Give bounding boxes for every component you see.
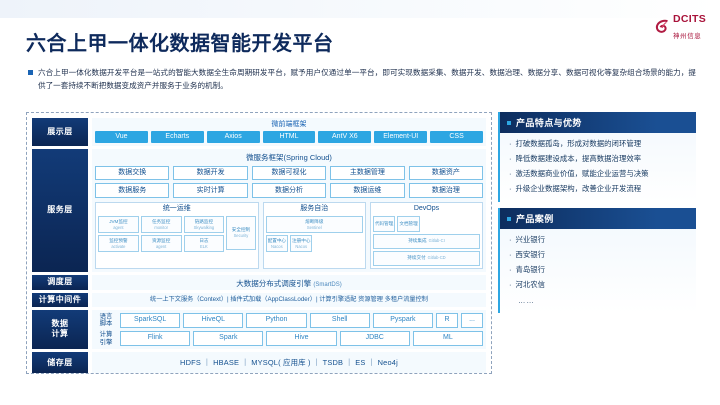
engine-chip[interactable]: Spark (193, 331, 263, 346)
dcits-swirl-icon (655, 19, 670, 34)
square-bullet-icon (28, 70, 33, 75)
ops-cell-en: Skywalking (194, 225, 214, 230)
list-item-label: 西安银行 (515, 251, 545, 260)
panel-cases: 产品案例 · 兴业银行 · 西安银行 · 青岛银行 · 河北农信 …… (498, 208, 696, 313)
list-item-label: 激活数据商业价值，赋能企业运营与决策 (515, 170, 648, 179)
engine-chip[interactable]: ML (413, 331, 483, 346)
ops-cell-en: activate (111, 244, 125, 249)
architecture-diagram: 展示层 微前端框架 Vue Echarts Axios HTML AntV X6… (26, 112, 492, 374)
ops-cell[interactable]: 资源监控 agent (141, 235, 182, 252)
ops-cell[interactable]: JVM监控 agent (98, 216, 139, 233)
service-module[interactable]: 数据交换 (95, 166, 169, 181)
list-item-label: 青岛银行 (515, 266, 545, 275)
list-item: · 降低数据建设成本，提高数据治理效率 (509, 155, 687, 164)
script-chip[interactable]: Python (246, 313, 306, 328)
panel-cases-list: · 兴业银行 · 西安银行 · 青岛银行 · 河北农信 …… (500, 229, 696, 309)
list-item-label: 打破数据孤岛，形成对数据的闭环管理 (515, 140, 641, 149)
ops-cell-en: monitor (154, 225, 168, 230)
script-chip[interactable]: SparkSQL (120, 313, 180, 328)
scheduler-engine-cn: 大数据分布式调度引擎 (236, 279, 311, 288)
layer-scheduler: 调度层 大数据分布式调度引擎 (SmartDS) (32, 275, 486, 290)
layer-label-middleware: 计算中间件 (32, 293, 88, 307)
compute-engine-row: 计算 引擎 Flink Spark Hive JDBC ML (95, 331, 483, 346)
scheduler-engine-title: 大数据分布式调度引擎 (SmartDS) (96, 278, 482, 289)
script-chip[interactable]: Shell (310, 313, 370, 328)
devops-cell-doc-mgmt[interactable]: 文档管理 (397, 216, 419, 232)
group-title: 服务自治 (266, 205, 363, 213)
compute-engine-label: 计算 引擎 (95, 331, 117, 346)
devops-cell-cn: 文档管理 (399, 221, 417, 227)
dot-bullet-icon: · (509, 185, 511, 194)
layer-label-service: 服务层 (32, 149, 88, 272)
service-module-row-1: 数据交换 数据开发 数据可视化 主数据管理 数据资产 (95, 166, 483, 181)
header-band (0, 0, 720, 18)
list-item-label: 降低数据建设成本，提高数据治理效率 (515, 155, 641, 164)
tech-chip[interactable]: AntV X6 (318, 131, 371, 143)
ops-cell-en: agent (113, 225, 123, 230)
engine-chip[interactable]: Flink (120, 331, 190, 346)
dot-bullet-icon: · (509, 140, 511, 149)
list-item-label: 兴业银行 (515, 236, 545, 245)
list-item: · 激活数据商业价值，赋能企业运营与决策 (509, 170, 687, 179)
service-module[interactable]: 数据可视化 (252, 166, 326, 181)
intro-text: 六合上甲一体化数据开发平台是一站式的智能大数据全生命周期研发平台，赋予用户仅通过… (38, 66, 696, 93)
panel-advantages-title: 产品特点与优势 (516, 116, 582, 129)
layer-label-compute: 数据 计算 (32, 310, 88, 350)
page-title: 六合上甲一体化数据智能开发平台 (26, 27, 334, 56)
compute-script-label-line2: 脚本 (100, 320, 113, 328)
devops-cell-cn: 持续交付 (407, 255, 425, 261)
list-item: · 河北农信 (509, 281, 687, 290)
group-service-autonomy: 服务自治 熔断降级 Sentinel 配置中心 Nacos (263, 202, 366, 268)
ops-cell-en: agent (156, 244, 166, 249)
layer-label-compute-line2: 计算 (52, 329, 69, 338)
autonomy-cell-circuit-breaker[interactable]: 熔断降级 Sentinel (266, 216, 363, 233)
compute-script-row: 语言 脚本 SparkSQL HiveQL Python Shell Pyspa… (95, 313, 483, 328)
layer-service: 服务层 微服务框架(Spring Cloud) 数据交换 数据开发 数据可视化 … (32, 149, 486, 272)
devops-cell-ci[interactable]: 持续集成 Gitlab-CI (373, 234, 480, 249)
service-module[interactable]: 数据治理 (409, 183, 483, 198)
script-chip-more[interactable]: ... (461, 313, 483, 328)
square-bullet-icon (507, 121, 511, 125)
tech-chip[interactable]: Vue (95, 131, 148, 143)
engine-chip[interactable]: Hive (266, 331, 336, 346)
dot-bullet-icon: · (509, 236, 511, 245)
layer-compute: 数据 计算 语言 脚本 SparkSQL HiveQL Python Shell… (32, 310, 486, 350)
service-module[interactable]: 主数据管理 (330, 166, 404, 181)
layer-storage: 储存层 HDFS ｜ HBASE ｜ MYSQL( 应用库 ) ｜ TSDB ｜… (32, 352, 486, 373)
group-title: DevOps (373, 205, 480, 213)
devops-cell-code-mgmt[interactable]: 代码管理 (373, 216, 395, 232)
layer-presentation: 展示层 微前端框架 Vue Echarts Axios HTML AntV X6… (32, 118, 486, 146)
service-module[interactable]: 数据运维 (330, 183, 404, 198)
dot-bullet-icon: · (509, 251, 511, 260)
scheduler-engine-en: (SmartDS) (313, 282, 341, 288)
panel-advantages-header: 产品特点与优势 (500, 112, 696, 133)
tech-chip[interactable]: Axios (207, 131, 260, 143)
script-chip[interactable]: R (436, 313, 458, 328)
panel-cases-header: 产品案例 (500, 208, 696, 229)
list-item-label: 河北农信 (515, 281, 545, 290)
service-module[interactable]: 数据资产 (409, 166, 483, 181)
layer-label-compute-line1: 数据 (52, 319, 69, 328)
intro-paragraph: 六合上甲一体化数据开发平台是一站式的智能大数据全生命周期研发平台，赋予用户仅通过… (28, 66, 696, 93)
autonomy-cell-registry-center[interactable]: 注册中心 Nacos (290, 235, 312, 252)
list-item: · 升级企业数据架构，改善企业开发流程 (509, 185, 687, 194)
square-bullet-icon (507, 217, 511, 221)
service-module[interactable]: 数据开发 (173, 166, 247, 181)
ops-cell[interactable]: 监控预警 activate (98, 235, 139, 252)
middleware-capabilities: 统一上下文服务（Context）| 插件式加载（AppClassLoder）| … (96, 296, 482, 304)
devops-cell-en: Gitlab-CI (429, 238, 445, 243)
dot-bullet-icon: · (509, 266, 511, 275)
service-module[interactable]: 数据分析 (252, 183, 326, 198)
ops-cell-en: Security (234, 233, 249, 238)
ops-cell[interactable]: 链路监控 Skywalking (184, 216, 225, 233)
layer-middleware: 计算中间件 统一上下文服务（Context）| 插件式加载（AppClassLo… (32, 293, 486, 307)
devops-cell-cd[interactable]: 持续交付 Gitlab-CD (373, 251, 480, 266)
autonomy-cell-config-center[interactable]: 配置中心 Nacos (266, 235, 288, 252)
service-framework-title: 微服务框架(Spring Cloud) (95, 152, 483, 163)
devops-cell-cn: 持续集成 (408, 238, 426, 244)
ops-cell[interactable]: 任务监控 monitor (141, 216, 182, 233)
presentation-chip-row: Vue Echarts Axios HTML AntV X6 Element-U… (95, 131, 483, 143)
list-item: · 西安银行 (509, 251, 687, 260)
ops-cell-security[interactable]: 安全控制 Security (226, 216, 255, 250)
list-item: · 兴业银行 (509, 236, 687, 245)
layer-label-storage: 储存层 (32, 352, 88, 373)
script-chip[interactable]: Pyspark (373, 313, 433, 328)
service-support-groups: 统一运维 JVM监控 agent 监控预警 activate (95, 202, 483, 268)
script-chip[interactable]: HiveQL (183, 313, 243, 328)
group-unified-ops: 统一运维 JVM监控 agent 监控预警 activate (95, 202, 259, 268)
group-devops: DevOps 代码管理 文档管理 持续集成 Gitlab-C (370, 202, 483, 268)
layer-label-scheduler: 调度层 (32, 275, 88, 290)
devops-cell-en: Gitlab-CD (428, 255, 446, 260)
compute-engine-label-line2: 引擎 (100, 339, 113, 347)
compute-script-label: 语言 脚本 (95, 313, 117, 328)
service-module[interactable]: 实时计算 (173, 183, 247, 198)
service-module[interactable]: 数据服务 (95, 183, 169, 198)
service-module-row-2: 数据服务 实时计算 数据分析 数据运维 数据治理 (95, 183, 483, 198)
tech-chip[interactable]: Element-UI (374, 131, 427, 143)
storage-technologies: HDFS ｜ HBASE ｜ MYSQL( 应用库 ) ｜ TSDB ｜ ES … (92, 352, 486, 373)
group-title: 统一运维 (98, 205, 256, 213)
list-item: · 打破数据孤岛，形成对数据的闭环管理 (509, 140, 687, 149)
panel-advantages: 产品特点与优势 · 打破数据孤岛，形成对数据的闭环管理 · 降低数据建设成本，提… (498, 112, 696, 202)
layer-label-presentation: 展示层 (32, 118, 88, 146)
panel-advantages-list: · 打破数据孤岛，形成对数据的闭环管理 · 降低数据建设成本，提高数据治理效率 … (500, 133, 696, 204)
tech-chip[interactable]: CSS (430, 131, 483, 143)
tech-chip[interactable]: HTML (263, 131, 316, 143)
dot-bullet-icon: · (509, 281, 511, 290)
list-item-label: 升级企业数据架构，改善企业开发流程 (515, 185, 641, 194)
brand-logo-cn: 神州信息 (673, 33, 701, 40)
dot-bullet-icon: · (509, 170, 511, 179)
panel-cases-title: 产品案例 (516, 212, 554, 225)
autonomy-cell-en: Nacos (271, 244, 283, 249)
list-item: · 青岛银行 (509, 266, 687, 275)
presentation-framework-title: 微前端框架 (95, 120, 483, 129)
engine-chip[interactable]: JDBC (340, 331, 410, 346)
ops-cell-en: ELK (200, 244, 208, 249)
brand-logo: DCITS 神州信息 (655, 10, 706, 42)
list-item-more: …… (509, 296, 687, 305)
dot-bullet-icon: · (509, 155, 511, 164)
autonomy-cell-en: Sentinel (307, 225, 322, 230)
autonomy-cell-en: Nacos (295, 244, 307, 249)
devops-cell-cn: 代码管理 (375, 221, 393, 227)
ops-cell[interactable]: 日志 ELK (184, 235, 225, 252)
tech-chip[interactable]: Echarts (151, 131, 204, 143)
compute-engine-label-line1: 计算 (100, 331, 113, 339)
brand-logo-en: DCITS (673, 13, 706, 25)
